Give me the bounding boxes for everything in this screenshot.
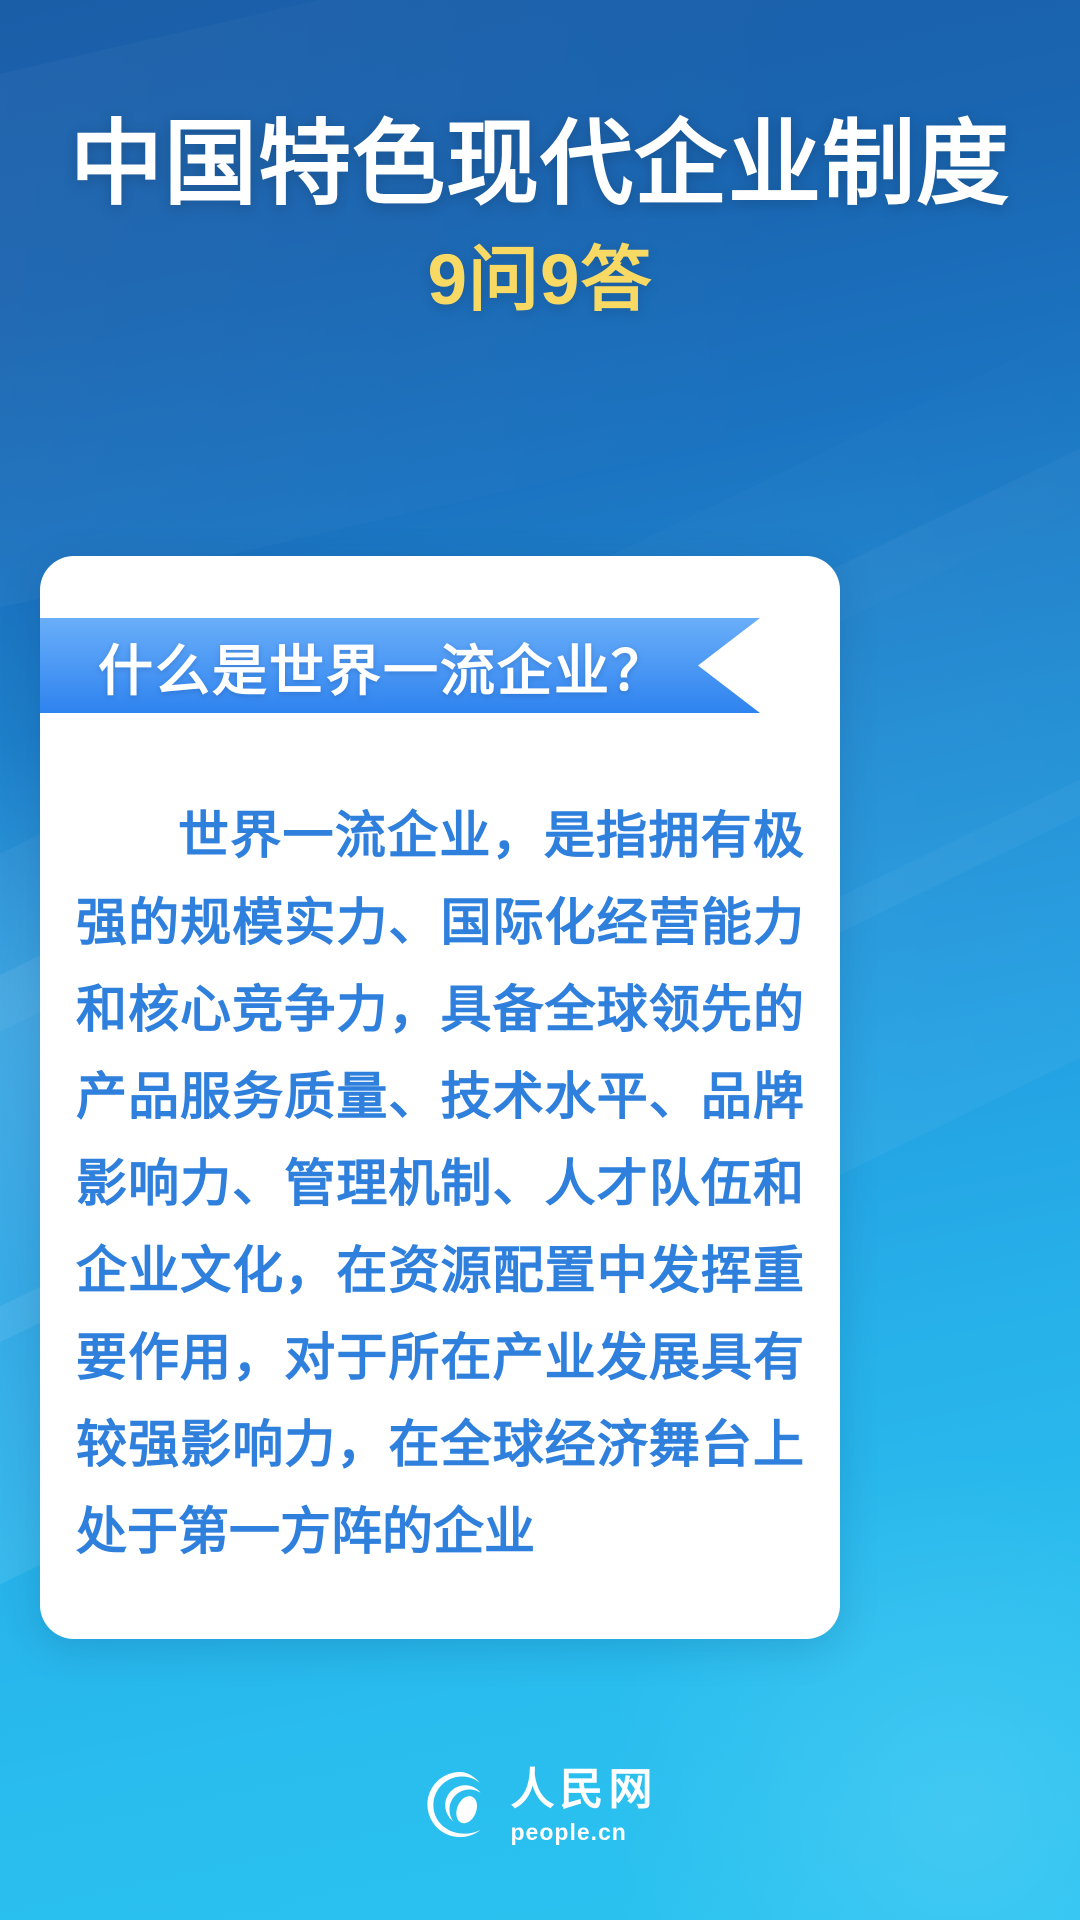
poster-header: 中国特色现代企业制度 9问9答 [0,0,1080,316]
site-logo-en: people.cn [511,1821,627,1844]
question-label: 什么是世界一流企业？ [40,626,668,706]
site-logo-text: 人民网 people.cn [511,1768,658,1844]
page-subtitle: 9问9答 [0,245,1080,316]
answer-text: 世界一流企业，是指拥有极强的规模实力、国际化经营能力和核心竞争力，具备全球领先的… [76,792,804,1575]
poster-root: 中国特色现代企业制度 9问9答 什么是世界一流企业？ 世界一流企业，是指拥有极强… [0,0,1080,1920]
qa-card: 什么是世界一流企业？ 世界一流企业，是指拥有极强的规模实力、国际化经营能力和核心… [40,556,840,1639]
question-banner-shape: 什么是世界一流企业？ [40,618,760,713]
page-title: 中国特色现代企业制度 [0,118,1080,211]
site-logo-cn: 人民网 [511,1768,658,1812]
site-logo: 人民网 people.cn [0,1768,1080,1844]
question-banner: 什么是世界一流企业？ [40,618,760,713]
people-cn-swirl-icon [423,1769,497,1843]
qa-card-body: 世界一流企业，是指拥有极强的规模实力、国际化经营能力和核心竞争力，具备全球领先的… [40,556,840,1639]
